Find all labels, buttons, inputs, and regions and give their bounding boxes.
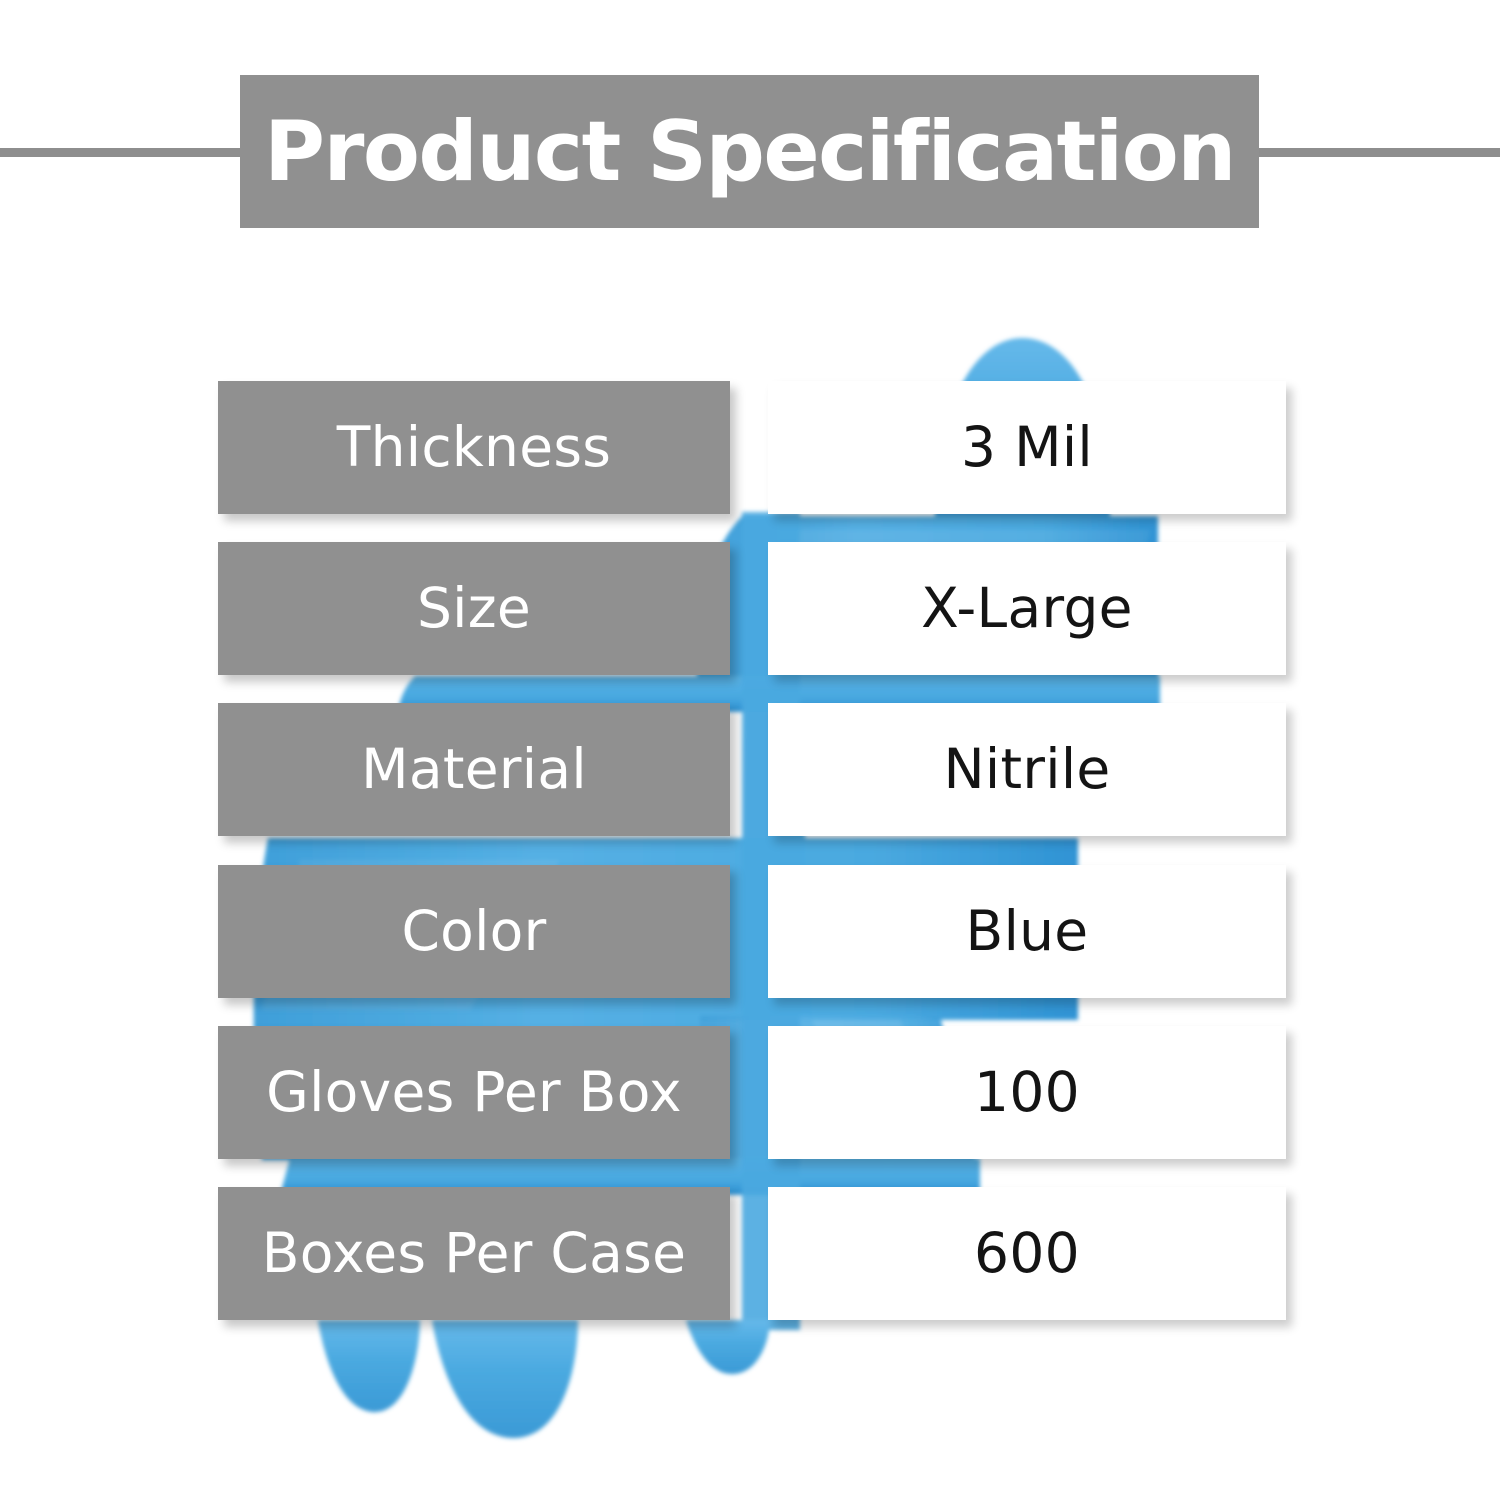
spec-row-color: Color Blue xyxy=(0,865,1500,998)
spec-value-text: 100 xyxy=(974,1065,1080,1120)
spec-row-gloves-per-box: Gloves Per Box 100 xyxy=(0,1026,1500,1159)
spec-row-thickness: Thickness 3 Mil xyxy=(0,381,1500,514)
spec-label-text: Color xyxy=(401,904,546,959)
spec-label-cell: Gloves Per Box xyxy=(218,1026,730,1159)
spec-label-cell: Thickness xyxy=(218,381,730,514)
spec-value-cell: 3 Mil xyxy=(768,381,1286,514)
spec-label-cell: Size xyxy=(218,542,730,675)
spec-value-cell: 100 xyxy=(768,1026,1286,1159)
spec-value-cell: Blue xyxy=(768,865,1286,998)
spec-row-boxes-per-case: Boxes Per Case 600 xyxy=(0,1187,1500,1320)
spec-value-text: 600 xyxy=(974,1226,1080,1281)
spec-value-text: Blue xyxy=(966,904,1089,959)
spec-label-text: Thickness xyxy=(337,420,612,475)
spec-value-text: 3 Mil xyxy=(961,420,1093,475)
spec-row-size: Size X-Large xyxy=(0,542,1500,675)
spec-label-text: Boxes Per Case xyxy=(262,1226,686,1281)
spec-value-cell: 600 xyxy=(768,1187,1286,1320)
spec-value-text: Nitrile xyxy=(943,742,1110,797)
infographic-page: Product Specification Thickness 3 Mil Si… xyxy=(0,0,1500,1500)
spec-row-material: Material Nitrile xyxy=(0,703,1500,836)
spec-label-cell: Boxes Per Case xyxy=(218,1187,730,1320)
spec-table: Thickness 3 Mil Size X-Large Material Ni… xyxy=(0,0,1500,1500)
spec-label-text: Size xyxy=(417,581,531,636)
spec-label-cell: Color xyxy=(218,865,730,998)
spec-label-cell: Material xyxy=(218,703,730,836)
spec-value-text: X-Large xyxy=(921,581,1133,636)
spec-label-text: Material xyxy=(361,742,587,797)
spec-value-cell: Nitrile xyxy=(768,703,1286,836)
spec-label-text: Gloves Per Box xyxy=(266,1065,682,1120)
spec-value-cell: X-Large xyxy=(768,542,1286,675)
